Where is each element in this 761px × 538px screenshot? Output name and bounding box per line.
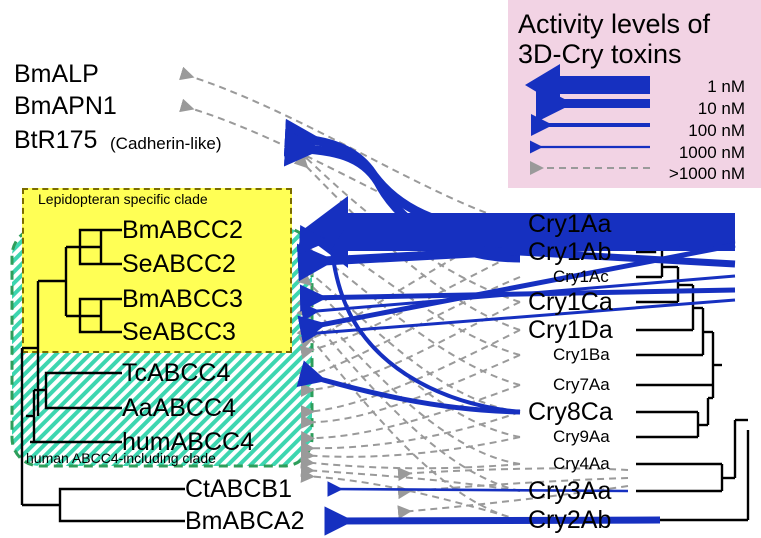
legend-label-10nm: 10 nM bbox=[560, 99, 745, 119]
legend-label-1000nm: 1000 nM bbox=[560, 143, 745, 163]
legend-label-100nm: 100 nM bbox=[560, 121, 745, 141]
legend-label-over1000nm: >1000 nM bbox=[560, 164, 745, 184]
figure-canvas: BmALP BmAPN1 BtR175 (Cadherin-like) Lepi… bbox=[0, 0, 761, 538]
legend-label-1nm: 1 nM bbox=[560, 77, 745, 97]
